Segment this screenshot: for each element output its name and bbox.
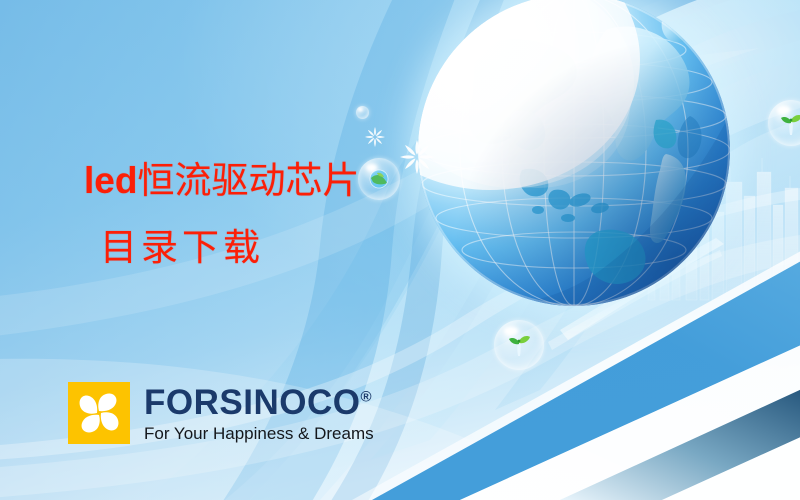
four-petal-pinwheel-icon <box>68 382 130 444</box>
snowflake-asterisk-icon <box>398 138 436 176</box>
bubble-with-globe-icon <box>358 158 400 200</box>
globe-shading <box>418 0 730 306</box>
snowflake-asterisk-icon <box>364 126 386 148</box>
headline-line-1: led恒流驱动芯片 <box>84 162 359 199</box>
brand-name: FORSINOCO® <box>144 385 374 420</box>
earth-globe-icon <box>418 0 730 306</box>
brand-tagline: For Your Happiness & Dreams <box>144 425 374 442</box>
page-title: led恒流驱动芯片 目录下载 <box>84 162 359 266</box>
bubble-with-sprout-icon <box>494 320 544 370</box>
sprout-leaf-icon <box>506 332 532 358</box>
sprout-leaf-icon <box>778 111 800 137</box>
mini-globe-icon <box>369 169 389 189</box>
headline-latin: led <box>84 160 137 201</box>
banner-canvas: led恒流驱动芯片 目录下载 FORSINOCO® For Your Happi… <box>0 0 800 500</box>
brand-logo[interactable]: FORSINOCO® For Your Happiness & Dreams <box>68 382 374 444</box>
headline-cjk: 恒流驱动芯片 <box>137 159 359 202</box>
headline-line-2: 目录下载 <box>100 229 359 266</box>
bubble-plain-icon <box>356 106 369 119</box>
registered-mark: ® <box>360 388 372 405</box>
brand-name-text: FORSINOCO <box>144 383 360 422</box>
